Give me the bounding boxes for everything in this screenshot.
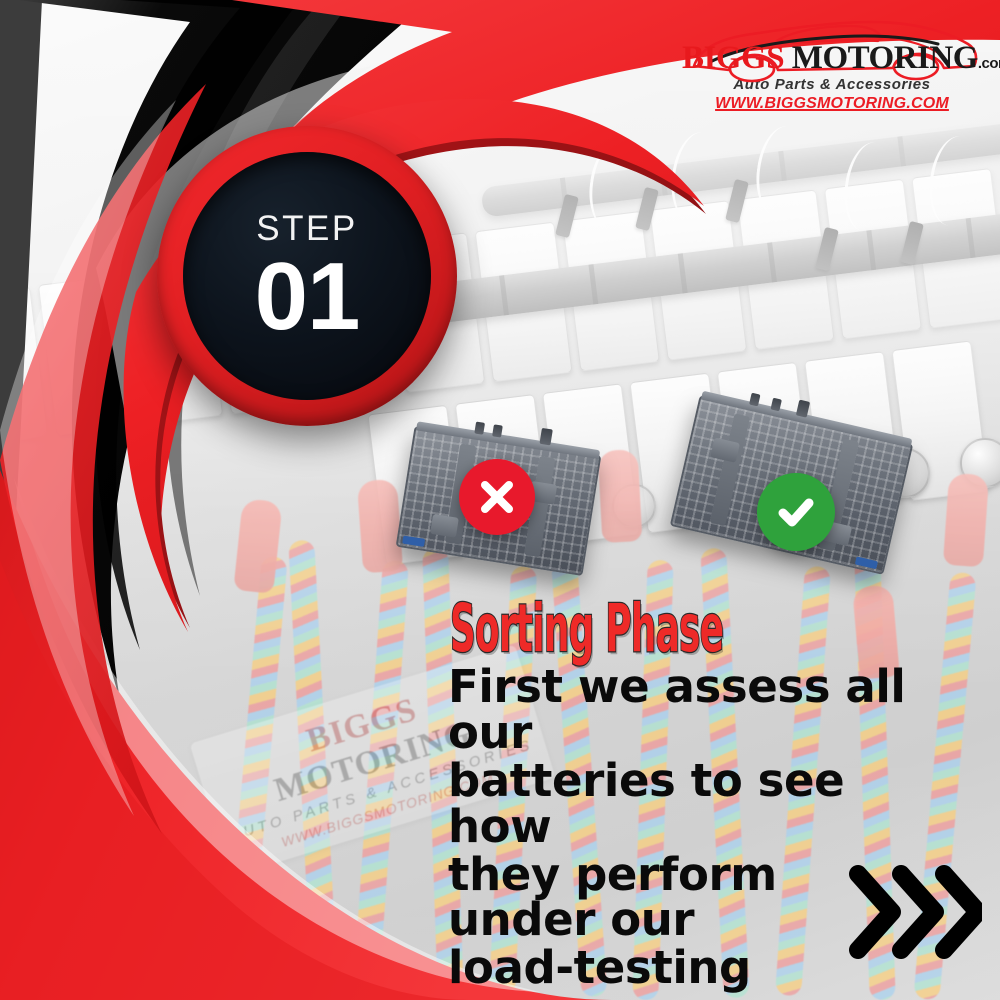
check-icon [772, 488, 820, 536]
logo-name-biggs: BIGGS [682, 40, 784, 76]
headline: Sorting Phase [450, 596, 723, 662]
logo-name-tld: .com [978, 55, 1000, 72]
cross-icon [475, 475, 519, 519]
body-line: batteries to see how [448, 758, 918, 850]
logo-wordmark: BIGGS MOTORING.com [682, 42, 982, 75]
reject-badge [459, 459, 535, 535]
body-line: First we assess all our [448, 664, 918, 756]
logo-name-motoring: MOTORING [784, 40, 978, 76]
step-number: 01 [255, 251, 360, 342]
brand-logo[interactable]: BIGGS MOTORING.com Auto Parts & Accessor… [682, 14, 982, 118]
step-badge-core: STEP 01 [183, 152, 431, 400]
step-badge: STEP 01 [157, 126, 457, 426]
pass-badge [757, 473, 835, 551]
poster-canvas: BIGGS MOTORING AUTO PARTS & ACCESSORIES … [0, 0, 1000, 1000]
logo-url[interactable]: WWW.BIGGSMOTORING.COM [682, 95, 982, 113]
triple-chevron-right-icon [844, 858, 982, 966]
